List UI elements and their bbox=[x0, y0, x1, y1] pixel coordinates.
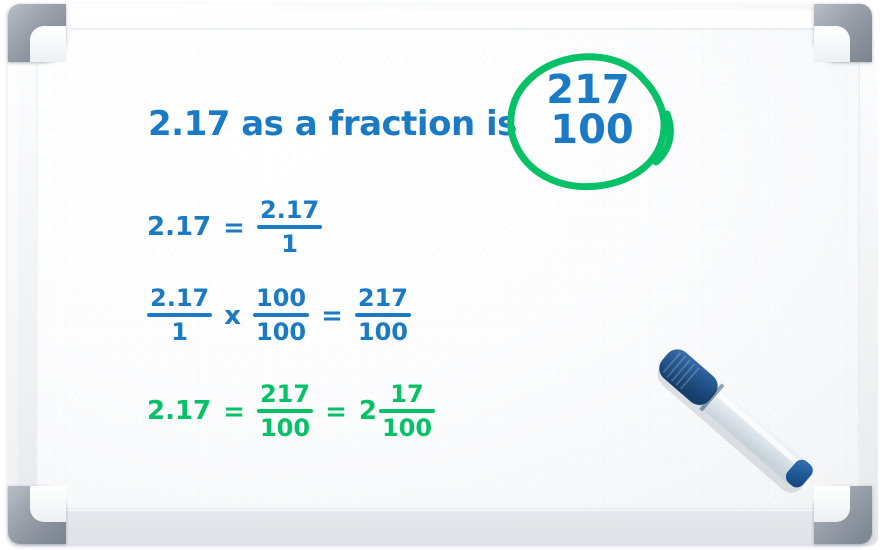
corner-bracket-top-left bbox=[8, 4, 66, 62]
eq3-fraction-1-numerator: 217 bbox=[257, 382, 313, 406]
eq2-fraction-2-denominator: 100 bbox=[253, 320, 309, 344]
eq2-fraction-3-denominator: 100 bbox=[355, 320, 411, 344]
eq3-fraction-1-bar bbox=[257, 409, 313, 413]
eq1-fraction-1-denominator: 1 bbox=[257, 232, 322, 256]
equation-row-1: 2.17 = 2.17 1 bbox=[147, 198, 328, 256]
eq2-fraction-2: 100 100 bbox=[253, 286, 309, 344]
eq2-fraction-3-bar bbox=[355, 313, 411, 317]
eq2-fraction-3: 217 100 bbox=[355, 286, 411, 344]
eq2-fraction-1-denominator: 1 bbox=[147, 320, 212, 344]
corner-bracket-bottom-right bbox=[814, 486, 872, 544]
eq1-fraction-1-numerator: 2.17 bbox=[257, 198, 322, 222]
eq3-operator-equals-1: = bbox=[223, 399, 245, 425]
eq2-operator-multiply: x bbox=[224, 303, 241, 329]
eq3-mixed-fraction: 17 100 bbox=[379, 382, 435, 440]
eq2-fraction-2-numerator: 100 bbox=[253, 286, 309, 310]
answer-fraction: 217 100 bbox=[534, 70, 650, 150]
eq1-operator-equals: = bbox=[223, 215, 245, 241]
eq2-fraction-3-numerator: 217 bbox=[355, 286, 411, 310]
eq2-fraction-2-bar bbox=[253, 313, 309, 317]
equation-row-3: 2.17 = 217 100 = 2 17 100 bbox=[147, 382, 441, 440]
eq3-mixed-numerator: 17 bbox=[379, 382, 435, 406]
eq2-operator-equals: = bbox=[321, 303, 343, 329]
whiteboard-frame-outer bbox=[8, 4, 872, 544]
page-title: 2.17 as a fraction is bbox=[148, 104, 517, 144]
eq3-mixed-whole: 2 bbox=[359, 398, 377, 424]
eq3-mixed-bar bbox=[379, 409, 435, 413]
eq3-mixed-denominator: 100 bbox=[379, 416, 435, 440]
eq3-fraction-1-denominator: 100 bbox=[257, 416, 313, 440]
eq3-fraction-1: 217 100 bbox=[257, 382, 313, 440]
answer-denominator: 100 bbox=[550, 107, 634, 153]
eq3-operator-equals-2: = bbox=[325, 399, 347, 425]
eq1-fraction-1-bar bbox=[257, 225, 322, 229]
corner-bracket-bottom-left bbox=[8, 486, 66, 544]
eq2-fraction-1-numerator: 2.17 bbox=[147, 286, 212, 310]
corner-bracket-top-right bbox=[814, 4, 872, 62]
eq1-fraction-1: 2.17 1 bbox=[257, 198, 322, 256]
eq3-mixed-number: 2 17 100 bbox=[359, 382, 435, 440]
equation-row-2: 2.17 1 x 100 100 = 217 100 bbox=[147, 286, 417, 344]
eq1-lead-value: 2.17 bbox=[147, 214, 211, 240]
eq2-fraction-1-bar bbox=[147, 313, 212, 317]
eq2-fraction-1: 2.17 1 bbox=[147, 286, 212, 344]
whiteboard-scene: 2.17 as a fraction is 217 100 2.17 = 2.1… bbox=[0, 0, 880, 550]
circled-answer: 217 100 bbox=[504, 52, 680, 192]
eq3-lead-value: 2.17 bbox=[147, 398, 211, 424]
